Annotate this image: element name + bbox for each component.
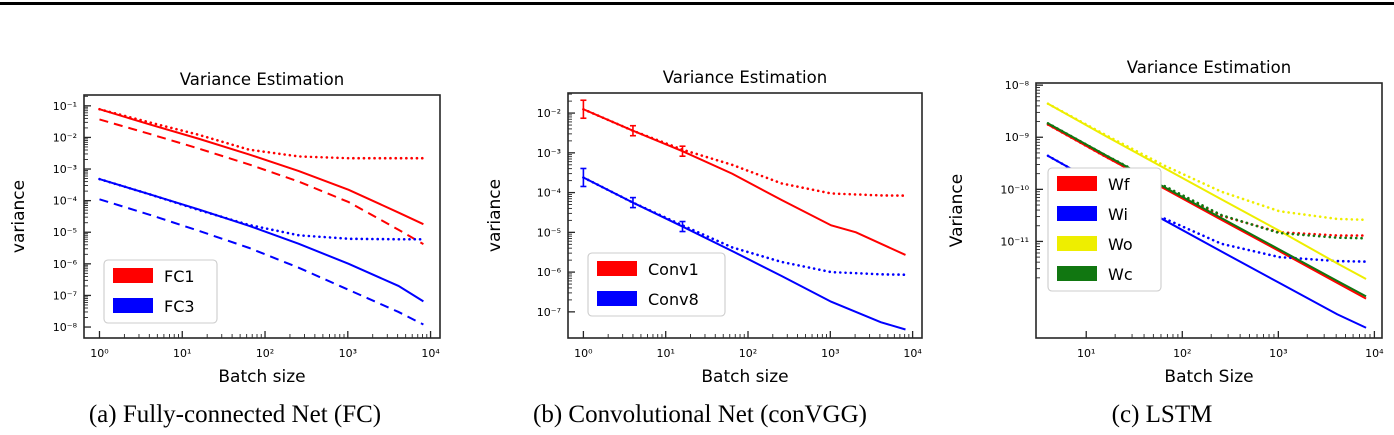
y-tick-label: 10⁻⁸ [1005, 79, 1030, 92]
panel-b-caption: (b) Convolutional Net (conVGG) [470, 401, 930, 429]
y-tick-label: 10⁻⁴ [537, 187, 562, 200]
legend-swatch [1057, 176, 1097, 191]
y-tick-label: 10⁻³ [53, 163, 77, 176]
legend-label: FC1 [164, 267, 195, 286]
x-tick-label: 10³ [339, 347, 357, 360]
legend-label: Wi [1108, 205, 1128, 224]
panel-a-plot: Variance Estimation10⁰10¹10²10³10⁴10⁻¹10… [0, 5, 470, 385]
series-line [99, 109, 423, 224]
y-tick-label: 10⁻¹¹ [1000, 235, 1029, 248]
y-tick-label: 10⁻⁵ [537, 226, 561, 239]
x-tick-label: 10² [256, 347, 274, 360]
y-tick-label: 10⁻⁹ [1005, 131, 1029, 144]
x-tick-label: 10³ [1269, 347, 1287, 360]
series-line [583, 109, 905, 195]
y-tick-label: 10⁻⁶ [53, 258, 78, 271]
y-tick-label: 10⁻⁸ [53, 321, 78, 334]
x-axis-label: Batch size [218, 367, 305, 385]
x-tick-label: 10⁴ [903, 347, 922, 360]
legend-swatch [1057, 236, 1097, 251]
panel-c-plot: Variance Estimation10¹10²10³10⁴10⁻⁸10⁻⁹1… [930, 5, 1394, 385]
legend-swatch [597, 291, 637, 306]
y-tick-label: 10⁻¹⁰ [1000, 183, 1029, 196]
legend-swatch [113, 268, 153, 283]
panel-a-caption: (a) Fully-connected Net (FC) [0, 401, 470, 429]
panel-c-caption: (c) LSTM [930, 401, 1394, 429]
x-tick-label: 10¹ [656, 347, 674, 360]
figure-panels: Variance Estimation10⁰10¹10²10³10⁴10⁻¹10… [0, 5, 1394, 435]
legend-swatch [597, 261, 637, 276]
y-tick-label: 10⁻⁷ [537, 306, 561, 319]
legend-swatch [113, 298, 153, 313]
legend-label: FC3 [164, 297, 195, 316]
panel-b-plot: Variance Estimation10⁰10¹10²10³10⁴10⁻²10… [470, 5, 930, 385]
x-tick-label: 10¹ [1077, 347, 1095, 360]
chart-title: Variance Estimation [663, 68, 827, 87]
y-tick-label: 10⁻² [537, 107, 561, 120]
legend-label: Wo [1108, 235, 1133, 254]
x-tick-label: 10² [739, 347, 757, 360]
x-tick-label: 10⁴ [1365, 347, 1384, 360]
panel-convolutional: Variance Estimation10⁰10¹10²10³10⁴10⁻²10… [470, 5, 930, 435]
x-tick-label: 10¹ [173, 347, 191, 360]
y-tick-label: 10⁻³ [537, 147, 561, 160]
chart-title: Variance Estimation [1127, 58, 1291, 77]
x-tick-label: 10⁴ [421, 347, 440, 360]
chart-b-svg: Variance Estimation10⁰10¹10²10³10⁴10⁻²10… [470, 5, 930, 385]
x-tick-label: 10² [1173, 347, 1191, 360]
y-axis-label: variance [9, 180, 29, 253]
panel-fully-connected: Variance Estimation10⁰10¹10²10³10⁴10⁻¹10… [0, 5, 470, 435]
y-tick-label: 10⁻² [53, 131, 77, 144]
legend-swatch [1057, 206, 1097, 221]
y-tick-label: 10⁻⁵ [53, 226, 77, 239]
panel-lstm: Variance Estimation10¹10²10³10⁴10⁻⁸10⁻⁹1… [930, 5, 1394, 435]
y-tick-label: 10⁻¹ [53, 100, 77, 113]
legend-label: Wf [1108, 175, 1130, 194]
series-line [99, 119, 423, 244]
y-axis-label: variance [485, 179, 505, 252]
chart-c-svg: Variance Estimation10¹10²10³10⁴10⁻⁸10⁻⁹1… [930, 5, 1394, 385]
y-tick-label: 10⁻⁶ [537, 266, 562, 279]
legend-label: Conv8 [648, 290, 699, 309]
y-tick-label: 10⁻⁴ [53, 195, 78, 208]
chart-title: Variance Estimation [180, 70, 344, 89]
y-axis-label: Variance [947, 174, 967, 247]
x-tick-label: 10⁰ [90, 347, 109, 360]
legend-label: Wc [1108, 265, 1133, 284]
x-tick-label: 10⁰ [574, 347, 593, 360]
x-axis-label: Batch size [701, 367, 788, 385]
x-axis-label: Batch Size [1164, 367, 1253, 385]
y-tick-label: 10⁻⁷ [53, 289, 77, 302]
legend-swatch [1057, 266, 1097, 281]
chart-a-svg: Variance Estimation10⁰10¹10²10³10⁴10⁻¹10… [0, 5, 470, 385]
x-tick-label: 10³ [821, 347, 839, 360]
legend-label: Conv1 [648, 260, 699, 279]
